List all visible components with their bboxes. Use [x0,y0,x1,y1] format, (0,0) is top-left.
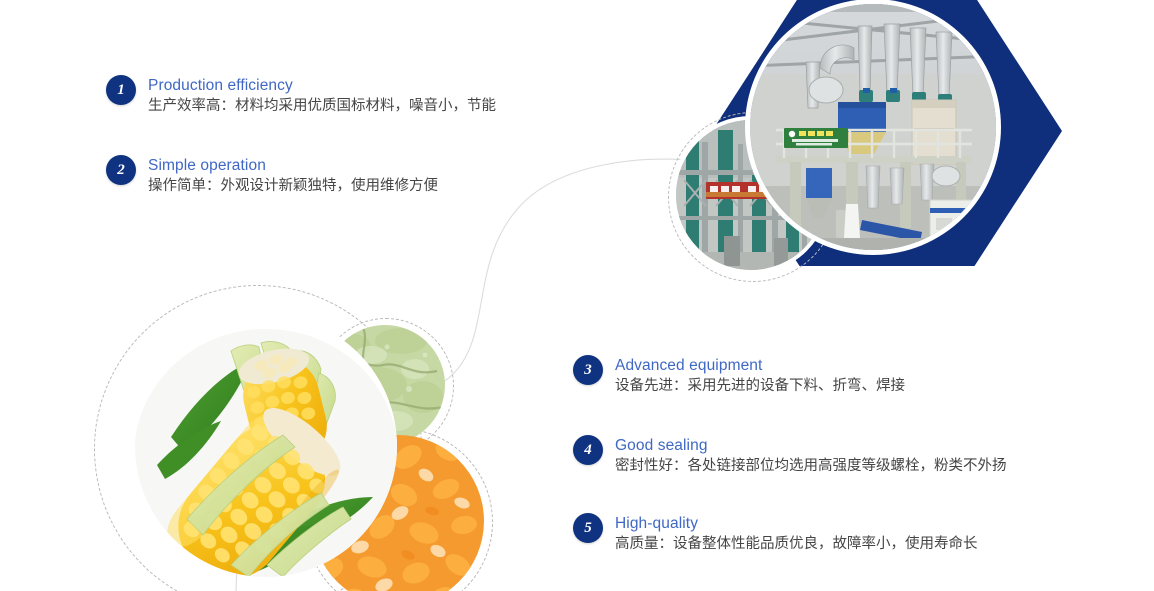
feature-badge-number: 1 [106,75,136,105]
feature-description: 操作简单：外观设计新颖独特，使用维修方便 [148,176,438,197]
feature-item-5[interactable]: 5 High-quality 高质量：设备整体性能品质优良，故障率小，使用寿命长 [573,513,978,555]
feature-title: Advanced equipment [615,356,905,375]
feature-item-4[interactable]: 4 Good sealing 密封性好：各处链接部位均选用高强度等级螺栓，粉类不… [573,435,1007,477]
feature-badge-number: 5 [573,513,603,543]
feature-description: 设备先进：采用先进的设备下料、折弯、焊接 [615,376,905,397]
feature-badge-number: 2 [106,155,136,185]
feature-title: Simple operation [148,156,438,175]
feature-text-block: High-quality 高质量：设备整体性能品质优良，故障率小，使用寿命长 [615,513,978,555]
feature-title: Good sealing [615,436,1007,455]
feature-text-block: Good sealing 密封性好：各处链接部位均选用高强度等级螺栓，粉类不外扬 [615,435,1007,477]
feature-item-3[interactable]: 3 Advanced equipment 设备先进：采用先进的设备下料、折弯、焊… [573,355,905,397]
flour-milling-plant-photo [750,4,996,250]
corn-cob-photo [135,315,397,577]
feature-description: 密封性好：各处链接部位均选用高强度等级螺栓，粉类不外扬 [615,456,1007,477]
feature-badge-number: 3 [573,355,603,385]
infographic-canvas: 1 Production efficiency 生产效率高：材料均采用优质国标材… [0,0,1154,591]
feature-title: Production efficiency [148,76,496,95]
feature-description: 高质量：设备整体性能品质优良，故障率小，使用寿命长 [615,534,978,555]
feature-text-block: Production efficiency 生产效率高：材料均采用优质国标材料，… [148,75,496,117]
feature-item-2[interactable]: 2 Simple operation 操作简单：外观设计新颖独特，使用维修方便 [106,155,438,197]
feature-description: 生产效率高：材料均采用优质国标材料，噪音小，节能 [148,96,496,117]
feature-text-block: Simple operation 操作简单：外观设计新颖独特，使用维修方便 [148,155,438,197]
feature-title: High-quality [615,514,978,533]
feature-item-1[interactable]: 1 Production efficiency 生产效率高：材料均采用优质国标材… [106,75,496,117]
feature-badge-number: 4 [573,435,603,465]
feature-text-block: Advanced equipment 设备先进：采用先进的设备下料、折弯、焊接 [615,355,905,397]
